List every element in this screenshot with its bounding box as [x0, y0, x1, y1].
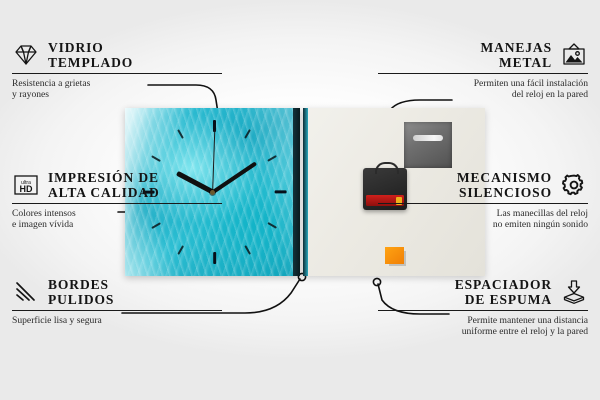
- feature-title: MANEJASMETAL: [480, 40, 552, 70]
- title-rule: [378, 203, 588, 204]
- feature-impresion-alta-calidad: ultra HD IMPRESIÓN DEALTA CALIDAD Colore…: [12, 170, 222, 231]
- feature-mecanismo-silencioso: MECANISMOSILENCIOSO Las manecillas del r…: [378, 170, 588, 231]
- title-rule: [12, 73, 222, 74]
- feature-description: Permiten una fácil instalacióndel reloj …: [378, 78, 588, 101]
- feature-manejas-metal: MANEJASMETAL Permiten una fácil instalac…: [378, 40, 588, 101]
- title-rule: [378, 310, 588, 311]
- feature-title: MECANISMOSILENCIOSO: [457, 170, 552, 200]
- svg-text:HD: HD: [20, 184, 33, 194]
- arrow-onto-pad-icon: [560, 279, 588, 305]
- feature-vidrio-templado: VIDRIOTEMPLADO Resistencia a grietasy ra…: [12, 40, 222, 101]
- feature-description: Permite mantener una distanciauniforme e…: [378, 315, 588, 338]
- ultra-hd-icon: ultra HD: [12, 172, 40, 198]
- infographic-canvas: VIDRIOTEMPLADO Resistencia a grietasy ra…: [0, 0, 600, 400]
- feature-title: VIDRIOTEMPLADO: [48, 40, 133, 70]
- feature-description: Superficie lisa y segura: [12, 315, 222, 326]
- diagonal-lines-icon: [12, 279, 40, 305]
- title-rule: [12, 310, 222, 311]
- feature-title: BORDESPULIDOS: [48, 277, 114, 307]
- hanger-slot: [413, 135, 443, 141]
- feature-description: Resistencia a grietasy rayones: [12, 78, 222, 101]
- gear-icon: [560, 172, 588, 198]
- feature-bordes-pulidos: BORDESPULIDOS Superficie lisa y segura: [12, 277, 222, 326]
- title-rule: [378, 73, 588, 74]
- metal-hanger-plate: [404, 122, 452, 168]
- feature-title: IMPRESIÓN DEALTA CALIDAD: [48, 170, 160, 200]
- foam-spacer-pad: [385, 247, 404, 264]
- hanging-picture-frame-icon: [560, 42, 588, 68]
- feature-espaciador-espuma: ESPACIADORDE ESPUMA Permite mantener una…: [378, 277, 588, 338]
- title-rule: [12, 203, 222, 204]
- feature-description: Colores intensose imagen vívida: [12, 208, 222, 231]
- diamond-icon: [12, 42, 40, 68]
- feature-title: ESPACIADORDE ESPUMA: [455, 277, 552, 307]
- feature-description: Las manecillas del relojno emiten ningún…: [378, 208, 588, 231]
